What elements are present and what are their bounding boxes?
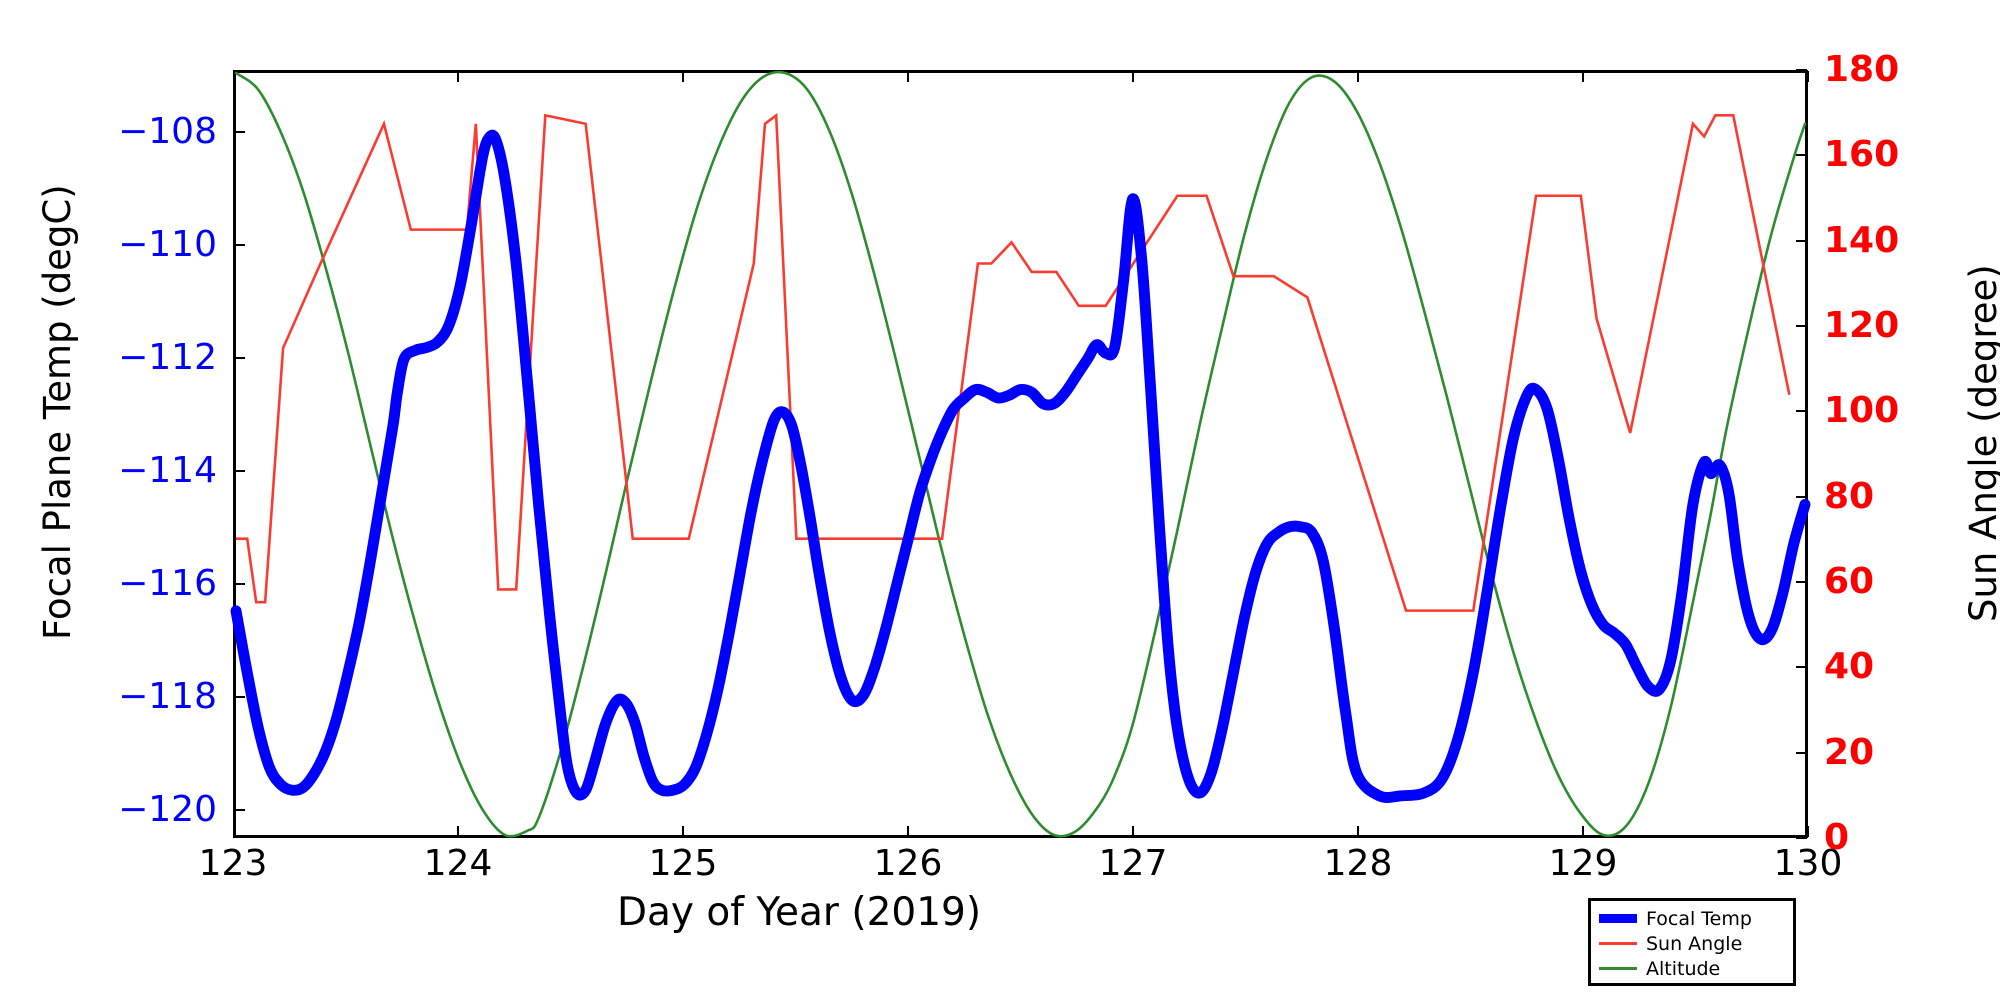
y-right-tickmark-20	[1796, 752, 1807, 754]
x-tick-label-125: 125	[649, 846, 718, 882]
y-left-tick-label-−120: −120	[118, 792, 217, 828]
x-tickmark-top-128	[1357, 71, 1359, 82]
y-right-tick-label-160: 160	[1824, 137, 1899, 173]
legend-label-altitude: Altitude	[1646, 958, 1720, 980]
x-tick-label-129: 129	[1549, 846, 1618, 882]
series-focal-temp	[236, 135, 1805, 797]
y-right-tick-label-20: 20	[1824, 735, 1874, 771]
y-left-tickmark-−110	[234, 244, 245, 246]
sun-angle-line	[236, 115, 1789, 610]
y-left-tick-label-−108: −108	[118, 114, 217, 150]
x-tickmark-126	[907, 826, 909, 837]
y-left-tickmark-−118	[234, 696, 245, 698]
x-tickmark-top-130	[1807, 71, 1809, 82]
x-tick-label-123: 123	[199, 846, 268, 882]
focal-temp-line	[236, 135, 1805, 797]
y-right-tickmark-120	[1796, 325, 1807, 327]
y-left-tick-label-−118: −118	[118, 679, 217, 715]
y-left-tick-label-−114: −114	[118, 453, 217, 489]
legend-item-sun-angle: Sun Angle	[1599, 931, 1785, 956]
x-tick-label-124: 124	[424, 846, 493, 882]
x-tickmark-127	[1132, 826, 1134, 837]
legend-swatch-sun-angle	[1599, 942, 1637, 945]
y-axis-right-title: Sun Angle (degree)	[1962, 264, 2000, 622]
legend-swatch-focal-temp	[1599, 914, 1637, 923]
x-tickmark-124	[457, 826, 459, 837]
legend: Focal Temp Sun Angle Altitude	[1588, 898, 1796, 986]
y-left-tickmark-−108	[234, 131, 245, 133]
chart-figure: 123124125126127128129130−108−110−112−114…	[0, 0, 2000, 1000]
x-tickmark-top-126	[907, 71, 909, 82]
x-tickmark-top-125	[682, 71, 684, 82]
series-sun-angle	[236, 115, 1789, 610]
y-right-tickmark-40	[1796, 666, 1807, 668]
y-left-tickmark-−114	[234, 470, 245, 472]
y-left-tick-label-−116: −116	[118, 566, 217, 602]
y-axis-left-title: Focal Plane Temp (degC)	[36, 184, 79, 640]
y-right-tickmark-80	[1796, 496, 1807, 498]
y-right-tickmark-60	[1796, 581, 1807, 583]
y-right-tick-label-140: 140	[1824, 223, 1899, 259]
y-right-tick-label-180: 180	[1824, 52, 1899, 88]
x-tick-label-127: 127	[1099, 846, 1168, 882]
y-right-tickmark-160	[1796, 154, 1807, 156]
legend-label-focal-temp: Focal Temp	[1646, 908, 1752, 930]
legend-item-altitude: Altitude	[1599, 956, 1785, 981]
y-right-tickmark-180	[1796, 69, 1807, 71]
x-axis-title: Day of Year (2019)	[617, 890, 981, 935]
y-right-tickmark-100	[1796, 410, 1807, 412]
x-tickmark-129	[1582, 826, 1584, 837]
x-tickmark-top-127	[1132, 71, 1134, 82]
y-left-tickmark-−112	[234, 357, 245, 359]
y-right-tick-label-120: 120	[1824, 308, 1899, 344]
x-tick-label-128: 128	[1324, 846, 1393, 882]
y-right-tick-label-0: 0	[1824, 820, 1849, 856]
plot-area	[233, 70, 1808, 838]
y-right-tick-label-80: 80	[1824, 479, 1874, 515]
legend-swatch-altitude	[1599, 967, 1637, 970]
y-right-tick-label-100: 100	[1824, 393, 1899, 429]
x-tickmark-top-124	[457, 71, 459, 82]
x-tick-label-126: 126	[874, 846, 943, 882]
legend-item-focal-temp: Focal Temp	[1599, 906, 1785, 931]
y-left-tickmark-−116	[234, 583, 245, 585]
x-tickmark-130	[1807, 826, 1809, 837]
y-right-tick-label-60: 60	[1824, 564, 1874, 600]
y-left-tick-label-−112: −112	[118, 340, 217, 376]
x-tickmark-top-129	[1582, 71, 1584, 82]
plot-canvas	[236, 73, 1805, 835]
y-left-tick-label-−110: −110	[118, 227, 217, 263]
y-right-tick-label-40: 40	[1824, 649, 1874, 685]
y-right-tickmark-0	[1796, 837, 1807, 839]
y-left-tickmark-−120	[234, 809, 245, 811]
y-right-tickmark-140	[1796, 240, 1807, 242]
x-tickmark-128	[1357, 826, 1359, 837]
legend-label-sun-angle: Sun Angle	[1646, 933, 1742, 955]
x-tickmark-125	[682, 826, 684, 837]
